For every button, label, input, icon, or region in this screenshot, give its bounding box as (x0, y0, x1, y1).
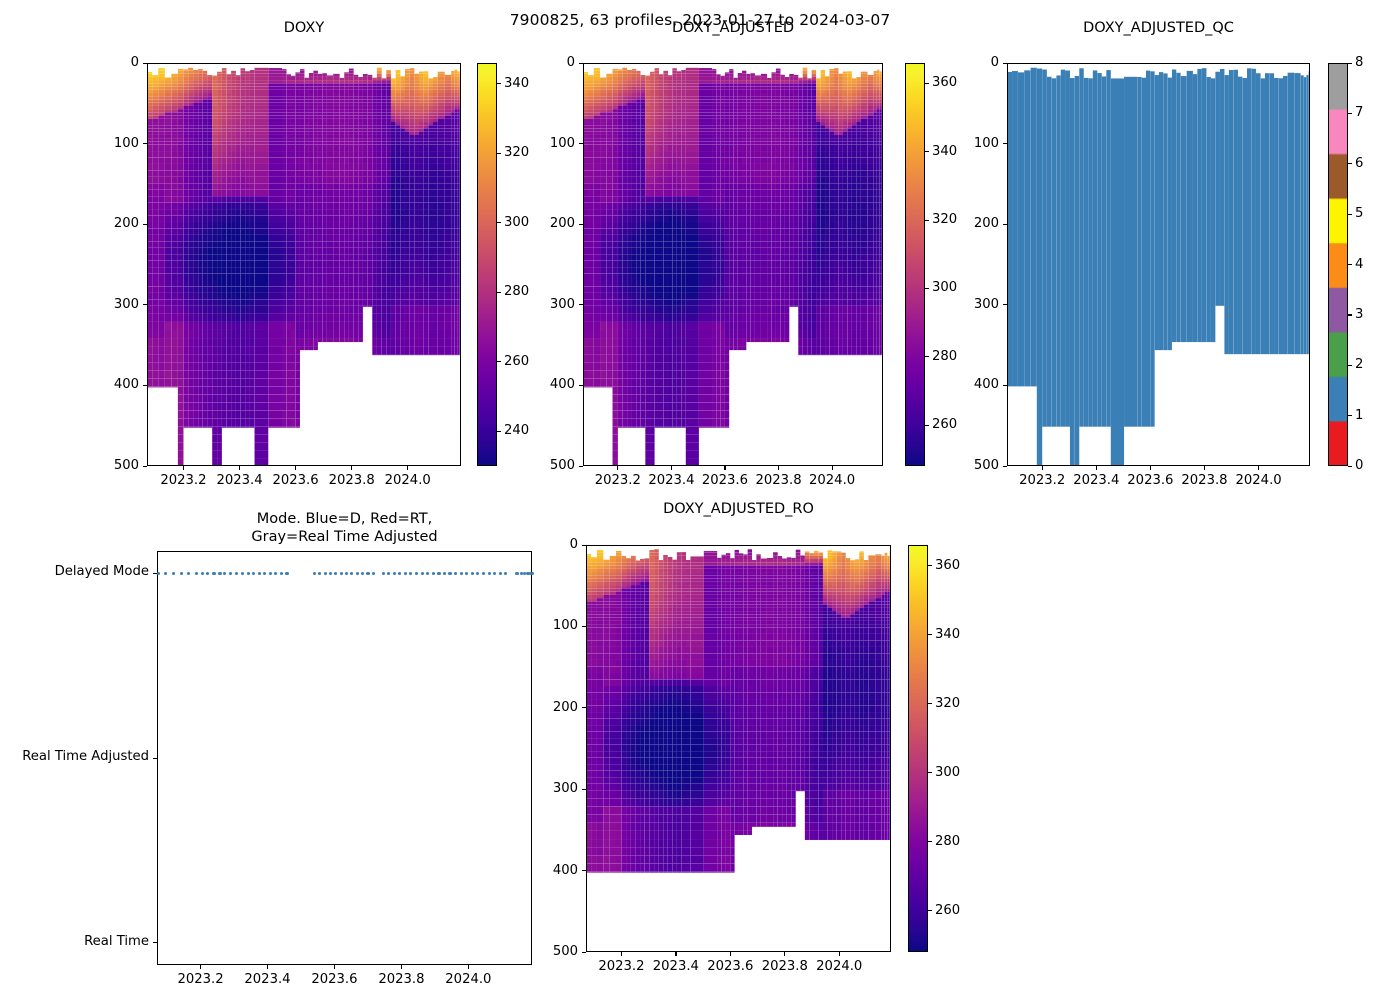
cb-qc-label-8: 8 (1355, 55, 1363, 70)
ax-adj-ytick-400 (579, 385, 583, 386)
mode-xtick-0 (200, 965, 201, 969)
ax-doxy-ytick-300 (143, 304, 147, 305)
cb-adj-tick-2 (925, 288, 929, 289)
ax-doxy-yticklabel-0: 0 (99, 55, 139, 70)
doxy-heatmap (148, 64, 461, 466)
axes-doxy-adjusted[interactable] (583, 63, 883, 466)
ax-qc-yticklabel-0: 0 (959, 55, 999, 70)
mode-point-delayed (443, 572, 446, 575)
mode-point-delayed (482, 572, 485, 575)
cb-doxy-tick-4 (497, 153, 501, 154)
cb-qc-label-3: 3 (1355, 307, 1363, 322)
ax-doxy-ytick-200 (143, 224, 147, 225)
mode-point-delayed (372, 572, 375, 575)
ax-doxy-xtick-4 (407, 466, 408, 470)
ax-ro-ytick-300 (582, 789, 586, 790)
mode-point-delayed (340, 572, 343, 575)
ax-adj-yticklabel-500: 500 (535, 458, 575, 473)
mode-xticklabel-0: 2023.2 (163, 972, 239, 987)
mode-xtick-3 (401, 965, 402, 969)
cb-qc-label-0: 0 (1355, 458, 1363, 473)
ax-ro-xtick-2 (730, 952, 731, 956)
cb-qc-label-4: 4 (1355, 257, 1363, 272)
mode-point-delayed (324, 572, 327, 575)
cb-qc-tick-8 (1348, 63, 1352, 64)
cb-doxy-label-2: 280 (504, 284, 529, 299)
mode-point-delayed (415, 572, 418, 575)
cb-qc-tick-0 (1348, 466, 1352, 467)
mode-point-delayed (426, 572, 429, 575)
doxy-adjusted-ro-heatmap (587, 546, 891, 952)
mode-point-delayed (247, 572, 250, 575)
doxy-adjusted-heatmap (584, 64, 883, 466)
colorbar-doxy-adjusted-gradient (906, 64, 924, 465)
ax-doxy-ytick-100 (143, 143, 147, 144)
cb-qc-tick-3 (1348, 314, 1352, 315)
mode-ytick-1 (153, 758, 157, 759)
colorbar-doxy-adjusted-qc (1328, 63, 1348, 466)
ax-qc-yticklabel-200: 200 (959, 216, 999, 231)
panel-doxy-adjusted-ro-title: DOXY_ADJUSTED_RO (586, 501, 891, 519)
mode-point-delayed (437, 572, 440, 575)
mode-yticklabel-1: Real Time Adjusted (0, 749, 149, 764)
ax-doxy-ytick-400 (143, 385, 147, 386)
mode-xtick-2 (334, 965, 335, 969)
cb-ro-label-3: 320 (935, 696, 960, 711)
mode-xtick-1 (267, 965, 268, 969)
mode-point-delayed (515, 572, 518, 575)
ax-adj-ytick-0 (579, 63, 583, 64)
ax-doxy-ytick-0 (143, 63, 147, 64)
ax-doxy-xticklabel-4: 2024.0 (370, 473, 446, 488)
cb-ro-tick-2 (928, 772, 932, 773)
ax-ro-yticklabel-100: 100 (538, 618, 578, 633)
mode-point-delayed (252, 572, 255, 575)
cb-ro-tick-4 (928, 634, 932, 635)
ax-ro-yticklabel-400: 400 (538, 863, 578, 878)
ax-qc-xtick-2 (1150, 466, 1151, 470)
cb-adj-tick-3 (925, 220, 929, 221)
cb-adj-tick-4 (925, 151, 929, 152)
mode-xticklabel-2: 2023.6 (296, 972, 372, 987)
ax-doxy-yticklabel-500: 500 (99, 458, 139, 473)
mode-point-delayed (471, 572, 474, 575)
mode-point-delayed (313, 572, 316, 575)
ax-qc-ytick-300 (1003, 304, 1007, 305)
cb-adj-label-0: 260 (932, 417, 957, 432)
ax-adj-xtick-0 (617, 466, 618, 470)
mode-point-delayed (285, 572, 288, 575)
mode-ytick-2 (153, 942, 157, 943)
cb-ro-label-0: 260 (935, 903, 960, 918)
panel-doxy-title: DOXY (147, 20, 461, 38)
ax-doxy-yticklabel-300: 300 (99, 297, 139, 312)
ax-ro-yticklabel-0: 0 (538, 537, 578, 552)
colorbar-doxy-adjusted (905, 63, 925, 466)
ax-adj-yticklabel-300: 300 (535, 297, 575, 312)
cb-doxy-tick-2 (497, 292, 501, 293)
mode-point-delayed (499, 572, 502, 575)
cb-qc-tick-6 (1348, 163, 1352, 164)
colorbar-doxy-adjusted-ro-gradient (909, 546, 927, 951)
ax-adj-xtick-4 (832, 466, 833, 470)
mode-point-delayed (241, 572, 244, 575)
mode-point-delayed (432, 572, 435, 575)
ax-qc-ytick-400 (1003, 385, 1007, 386)
mode-point-delayed (223, 572, 226, 575)
ax-qc-xtick-3 (1204, 466, 1205, 470)
ax-qc-ytick-200 (1003, 224, 1007, 225)
cb-qc-tick-2 (1348, 365, 1352, 366)
cb-qc-tick-1 (1348, 415, 1352, 416)
ax-adj-ytick-300 (579, 304, 583, 305)
ax-qc-ytick-0 (1003, 63, 1007, 64)
mode-point-delayed (361, 572, 364, 575)
ax-qc-xtick-0 (1042, 466, 1043, 470)
ax-ro-ytick-500 (582, 952, 586, 953)
mode-xticklabel-4: 2024.0 (430, 972, 506, 987)
ax-ro-ytick-0 (582, 545, 586, 546)
cb-qc-label-1: 1 (1355, 408, 1363, 423)
cb-adj-label-2: 300 (932, 280, 957, 295)
cb-doxy-label-3: 300 (504, 215, 529, 230)
cb-adj-label-3: 320 (932, 212, 957, 227)
axes-doxy-adjusted-ro[interactable] (586, 545, 891, 952)
ax-qc-xtick-4 (1258, 466, 1259, 470)
ax-ro-xtick-0 (621, 952, 622, 956)
mode-point-delayed (329, 572, 332, 575)
cb-adj-tick-0 (925, 425, 929, 426)
cb-doxy-tick-0 (497, 431, 501, 432)
ax-adj-ytick-100 (579, 143, 583, 144)
ax-ro-yticklabel-500: 500 (538, 944, 578, 959)
cb-doxy-label-0: 240 (504, 423, 529, 438)
ax-adj-yticklabel-400: 400 (535, 377, 575, 392)
cb-qc-tick-7 (1348, 113, 1352, 114)
ax-qc-yticklabel-300: 300 (959, 297, 999, 312)
cb-qc-tick-4 (1348, 264, 1352, 265)
figure-canvas: 7900825, 63 profiles, 2023-01-27 to 2024… (0, 0, 1400, 1000)
mode-point-delayed (366, 572, 369, 575)
cb-doxy-label-5: 340 (504, 76, 529, 91)
mode-point-delayed (269, 572, 272, 575)
cb-doxy-tick-5 (497, 83, 501, 84)
cb-ro-label-2: 300 (935, 765, 960, 780)
ax-doxy-yticklabel-200: 200 (99, 216, 139, 231)
ax-doxy-xtick-2 (295, 466, 296, 470)
cb-adj-label-1: 280 (932, 349, 957, 364)
mode-point-delayed (258, 572, 261, 575)
mode-point-delayed (393, 572, 396, 575)
ax-adj-yticklabel-0: 0 (535, 55, 575, 70)
colorbar-doxy-gradient (478, 64, 496, 465)
cb-qc-tick-5 (1348, 214, 1352, 215)
colorbar-doxy (477, 63, 497, 466)
panel-doxy-adjusted-title: DOXY_ADJUSTED (583, 20, 883, 38)
ax-adj-yticklabel-200: 200 (535, 216, 575, 231)
cb-adj-label-4: 340 (932, 144, 957, 159)
ax-qc-yticklabel-500: 500 (959, 458, 999, 473)
ax-doxy-yticklabel-400: 400 (99, 377, 139, 392)
mode-point-delayed (164, 572, 167, 575)
ax-doxy-xtick-3 (351, 466, 352, 470)
cb-doxy-label-1: 260 (504, 354, 529, 369)
cb-adj-tick-1 (925, 356, 929, 357)
cb-ro-label-1: 280 (935, 834, 960, 849)
ax-doxy-xtick-0 (183, 466, 184, 470)
ax-ro-xticklabel-4: 2024.0 (801, 959, 877, 974)
cb-qc-label-5: 5 (1355, 206, 1363, 221)
panel-doxy-adjusted-qc-title: DOXY_ADJUSTED_QC (1007, 20, 1310, 38)
axes-doxy[interactable] (147, 63, 461, 466)
ax-ro-ytick-200 (582, 707, 586, 708)
mode-point-delayed (382, 572, 385, 575)
mode-point-delayed (421, 572, 424, 575)
mode-yticklabel-2: Real Time (0, 934, 149, 949)
mode-point-delayed (195, 572, 198, 575)
mode-point-delayed (493, 572, 496, 575)
ax-doxy-ytick-500 (143, 466, 147, 467)
ax-adj-yticklabel-100: 100 (535, 136, 575, 151)
ax-qc-ytick-100 (1003, 143, 1007, 144)
cb-ro-tick-1 (928, 841, 932, 842)
ax-ro-yticklabel-300: 300 (538, 781, 578, 796)
axes-mode[interactable] (157, 551, 532, 965)
ax-adj-xtick-1 (671, 466, 672, 470)
ax-adj-ytick-500 (579, 466, 583, 467)
ax-qc-xtick-1 (1096, 466, 1097, 470)
ax-ro-ytick-100 (582, 626, 586, 627)
mode-point-delayed (218, 572, 221, 575)
cb-ro-tick-0 (928, 910, 932, 911)
ax-ro-xtick-4 (839, 952, 840, 956)
mode-point-delayed (212, 572, 215, 575)
mode-xticklabel-3: 2023.8 (363, 972, 439, 987)
mode-point-delayed (180, 572, 183, 575)
ax-adj-xticklabel-4: 2024.0 (794, 473, 870, 488)
ax-qc-yticklabel-400: 400 (959, 377, 999, 392)
cb-adj-tick-5 (925, 83, 929, 84)
mode-xticklabel-1: 2023.4 (229, 972, 305, 987)
colorbar-qc-swatches (1329, 64, 1347, 465)
mode-point-delayed (172, 572, 175, 575)
ax-ro-xtick-1 (675, 952, 676, 956)
cb-adj-label-5: 360 (932, 75, 957, 90)
cb-ro-tick-5 (928, 565, 932, 566)
ax-qc-xticklabel-4: 2024.0 (1221, 473, 1297, 488)
ax-ro-xtick-3 (784, 952, 785, 956)
ax-ro-yticklabel-200: 200 (538, 700, 578, 715)
ax-doxy-yticklabel-100: 100 (99, 136, 139, 151)
mode-point-delayed (460, 572, 463, 575)
mode-point-delayed (448, 572, 451, 575)
ax-adj-xtick-3 (778, 466, 779, 470)
cb-ro-label-4: 340 (935, 627, 960, 642)
cb-qc-label-6: 6 (1355, 156, 1363, 171)
cb-qc-label-2: 2 (1355, 357, 1363, 372)
ax-qc-ytick-500 (1003, 466, 1007, 467)
colorbar-doxy-adjusted-ro (908, 545, 928, 952)
cb-doxy-tick-3 (497, 222, 501, 223)
mode-point-delayed (201, 572, 204, 575)
panel-mode-title: Mode. Blue=D, Red=RT, Gray=Real Time Adj… (157, 511, 532, 546)
mode-point-delayed (404, 572, 407, 575)
ax-doxy-xtick-1 (239, 466, 240, 470)
doxy-adjusted-qc-heatmap (1008, 64, 1310, 466)
mode-point-delayed (488, 572, 491, 575)
mode-point-delayed (356, 572, 359, 575)
mode-point-delayed (531, 572, 534, 575)
cb-doxy-label-4: 320 (504, 145, 529, 160)
ax-ro-ytick-400 (582, 870, 586, 871)
cb-ro-tick-3 (928, 703, 932, 704)
cb-ro-label-5: 360 (935, 558, 960, 573)
axes-doxy-adjusted-qc[interactable] (1007, 63, 1310, 466)
ax-qc-yticklabel-100: 100 (959, 136, 999, 151)
ax-adj-ytick-200 (579, 224, 583, 225)
mode-point-delayed (345, 572, 348, 575)
mode-yticklabel-0: Delayed Mode (0, 564, 149, 579)
cb-qc-label-7: 7 (1355, 105, 1363, 120)
mode-xtick-4 (468, 965, 469, 969)
cb-doxy-tick-1 (497, 361, 501, 362)
ax-adj-xtick-2 (724, 466, 725, 470)
mode-point-delayed (280, 572, 283, 575)
